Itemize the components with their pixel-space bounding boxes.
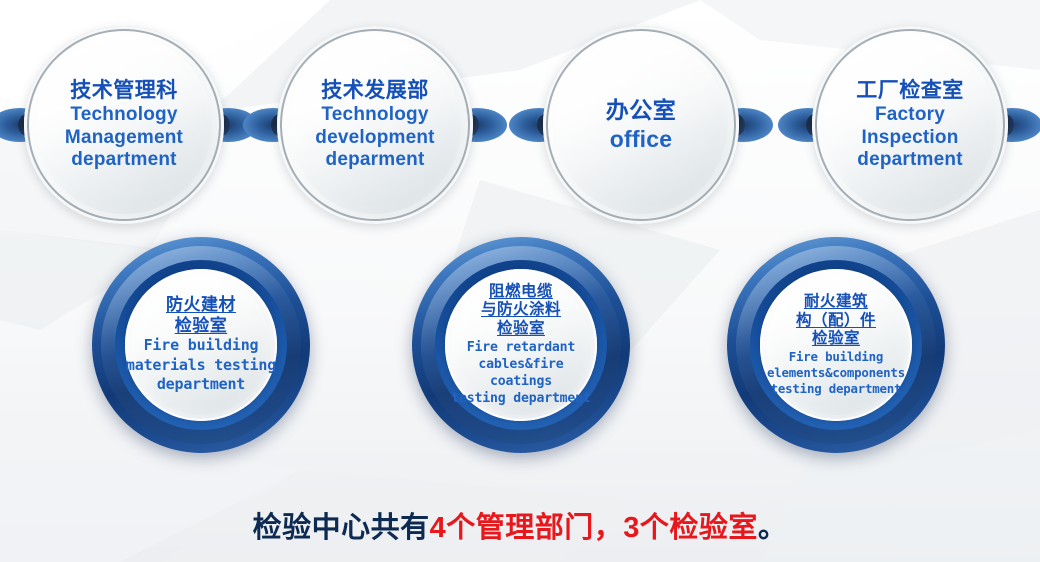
- summary-caption: 检验中心共有4个管理部门，3个检验室。: [0, 504, 1040, 546]
- laboratory-label-en-line-1: Fire retardant: [445, 339, 598, 356]
- management-label-cn: 技术发展部: [315, 79, 434, 104]
- laboratory-disc[interactable]: 阻燃电缆 与防火涂料 检验室 Fire retardant cables&fir…: [445, 269, 598, 420]
- management-label-en-line-1: Technology: [65, 104, 183, 126]
- laboratory-label-cn-line-1: 耐火建筑: [760, 293, 913, 312]
- laboratory-label-en-line-1: Fire building: [125, 336, 278, 356]
- laboratory-label-cn-line-1: 防火建材: [125, 295, 278, 315]
- caption-segment-4: 。: [758, 512, 788, 544]
- management-label: 办公室 office: [600, 97, 683, 152]
- management-node-technology-management[interactable]: 技术管理科 Technology Management department: [24, 26, 224, 224]
- management-disc[interactable]: 办公室 office: [543, 26, 739, 224]
- management-label: 工厂检查室 Factory Inspection department: [850, 79, 970, 172]
- management-label-en-line-2: Inspection: [856, 127, 964, 149]
- laboratory-node-fire-building-materials[interactable]: 防火建材 检验室 Fire building materials testing…: [92, 237, 310, 453]
- management-label-en-line-2: Management: [65, 127, 183, 149]
- caption-segment-3-highlight: 3个检验室: [623, 512, 758, 544]
- laboratory-label-cn-line-3: 检验室: [445, 320, 598, 339]
- caption-segment-1: 检验中心共有: [253, 512, 430, 544]
- management-disc[interactable]: 工厂检查室 Factory Inspection department: [812, 26, 1008, 224]
- laboratory-label-cn-line-1: 阻燃电缆: [445, 283, 598, 302]
- laboratory-label-en-line-2: elements&components: [760, 365, 913, 381]
- laboratory-node-fire-retardant-cables-coatings[interactable]: 阻燃电缆 与防火涂料 检验室 Fire retardant cables&fir…: [412, 237, 630, 453]
- laboratory-label-en-line-1: Fire building: [760, 349, 913, 365]
- management-label-en-line-3: department: [856, 149, 964, 171]
- laboratory-disc[interactable]: 耐火建筑 构（配）件 检验室 Fire building elements&co…: [760, 269, 913, 420]
- management-disc[interactable]: 技术管理科 Technology Management department: [24, 26, 224, 224]
- management-label-en-line-3: deparment: [315, 149, 434, 171]
- management-label-en-line-1: Technology: [315, 104, 434, 126]
- management-node-technology-development[interactable]: 技术发展部 Technology development deparment: [277, 26, 473, 224]
- management-node-factory-inspection[interactable]: 工厂检查室 Factory Inspection department: [812, 26, 1008, 224]
- laboratory-label-en-line-2: materials testing: [125, 356, 278, 376]
- laboratory-label: 耐火建筑 构（配）件 检验室 Fire building elements&co…: [760, 293, 913, 397]
- management-label-en-line-2: development: [315, 127, 434, 149]
- laboratory-node-fire-building-elements[interactable]: 耐火建筑 构（配）件 检验室 Fire building elements&co…: [727, 237, 945, 453]
- laboratory-disc[interactable]: 防火建材 检验室 Fire building materials testing…: [125, 269, 278, 420]
- management-label: 技术发展部 Technology development deparment: [309, 79, 440, 172]
- management-label-cn: 技术管理科: [65, 79, 183, 104]
- laboratory-label-cn-line-3: 检验室: [760, 330, 913, 349]
- laboratory-label: 阻燃电缆 与防火涂料 检验室 Fire retardant cables&fir…: [445, 283, 598, 407]
- management-node-office[interactable]: 办公室 office: [543, 26, 739, 224]
- caption-segment-2-highlight: 4个管理部门，: [430, 512, 624, 544]
- management-label-en-line-1: Factory: [856, 104, 964, 126]
- laboratory-label-en-line-2: cables&fire coatings: [445, 356, 598, 390]
- laboratory-label: 防火建材 检验室 Fire building materials testing…: [125, 295, 278, 394]
- management-label-en-line-1: office: [606, 126, 677, 153]
- laboratory-label-cn-line-2: 构（配）件: [760, 312, 913, 331]
- management-disc[interactable]: 技术发展部 Technology development deparment: [277, 26, 473, 224]
- laboratory-label-cn-line-2: 检验室: [125, 316, 278, 336]
- slide-canvas: 技术管理科 Technology Management department 技…: [0, 0, 1040, 562]
- laboratory-label-en-line-3: testing department: [760, 381, 913, 397]
- management-label-cn: 工厂检查室: [856, 79, 964, 104]
- management-label-cn: 办公室: [606, 97, 677, 124]
- management-label-en-line-3: department: [65, 149, 183, 171]
- laboratory-label-cn-line-2: 与防火涂料: [445, 301, 598, 320]
- laboratory-label-en-line-3: department: [125, 375, 278, 395]
- laboratory-label-en-line-3: testing department: [445, 390, 598, 407]
- management-label: 技术管理科 Technology Management department: [59, 79, 189, 172]
